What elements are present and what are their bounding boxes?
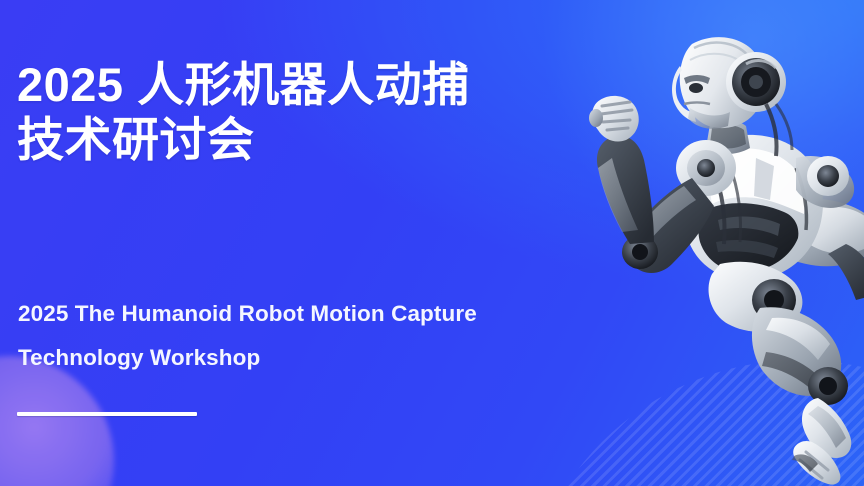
event-poster: 2025 人形机器人动捕 技术研讨会 2025 The Humanoid Rob…	[0, 0, 864, 486]
humanoid-robot-graphic	[560, 8, 864, 486]
